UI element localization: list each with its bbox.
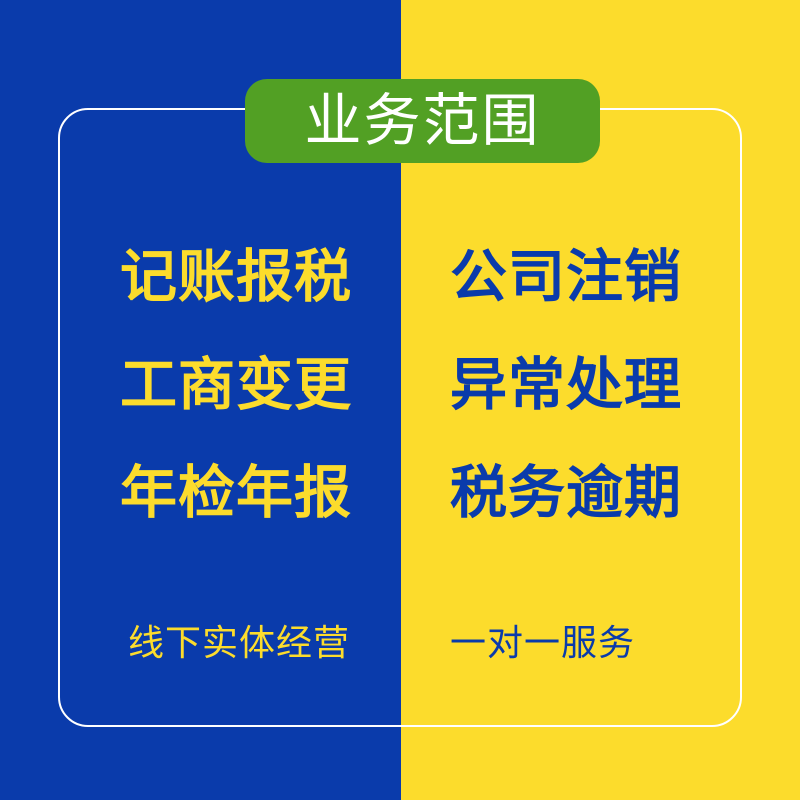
service-item-tax-overdue: 税务逾期 xyxy=(450,459,682,527)
title-badge: 业务范围 xyxy=(245,79,600,163)
service-item-accounting-tax: 记账报税 xyxy=(120,243,352,311)
service-row: 工商变更 异常处理 xyxy=(0,351,800,459)
service-item-business-change: 工商变更 xyxy=(120,351,352,419)
tagline-offline-entity: 线下实体经营 xyxy=(128,621,350,667)
footer-taglines: 线下实体经营 一对一服务 xyxy=(0,621,800,669)
service-item-annual-inspection-report: 年检年报 xyxy=(120,459,352,527)
service-item-company-deregistration: 公司注销 xyxy=(450,243,682,311)
page-title: 业务范围 xyxy=(305,93,541,150)
service-list: 记账报税 公司注销 工商变更 异常处理 年检年报 税务逾期 xyxy=(0,243,800,567)
tagline-one-on-one-service: 一对一服务 xyxy=(450,621,635,667)
promo-poster: 业务范围 记账报税 公司注销 工商变更 异常处理 年检年报 税务逾期 线下实体经… xyxy=(0,0,800,800)
service-row: 记账报税 公司注销 xyxy=(0,243,800,351)
service-row: 年检年报 税务逾期 xyxy=(0,459,800,567)
service-item-exception-handling: 异常处理 xyxy=(450,351,682,419)
